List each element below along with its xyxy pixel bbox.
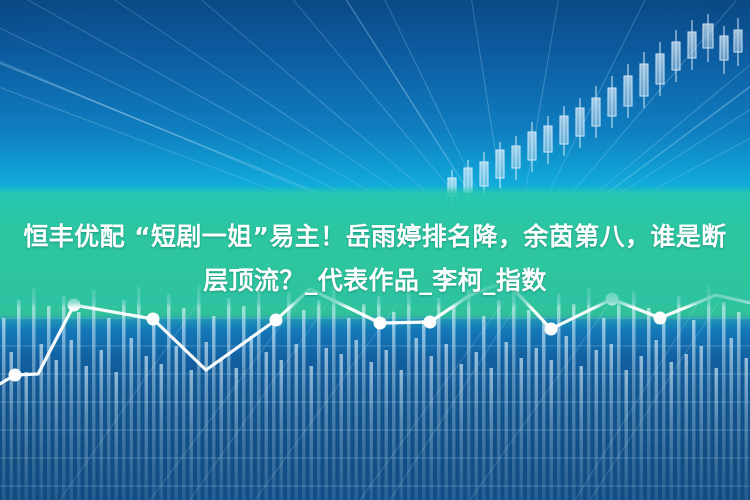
volume-bar-chart (2, 284, 748, 500)
candle (640, 52, 648, 108)
volume-bar (490, 368, 493, 500)
volume-bar (587, 288, 590, 500)
volume-bar (407, 288, 410, 500)
volume-bar (25, 372, 28, 500)
volume-bar (220, 358, 223, 500)
volume-bar (745, 358, 748, 500)
volume-bar (512, 284, 515, 500)
volume-bar (445, 344, 448, 500)
volume-bar (482, 316, 485, 500)
candle (656, 42, 664, 96)
volume-bar (640, 356, 643, 500)
volume-bar (182, 308, 185, 500)
volume-bar (190, 370, 193, 500)
volume-bar (115, 372, 118, 500)
title-line-1: 恒丰优配 “短剧一姐”易主！岳雨婷排名降，余茵第八，谁是断 (0, 215, 750, 259)
volume-bar (692, 320, 695, 500)
volume-bar (152, 320, 155, 500)
volume-bar (160, 364, 163, 500)
volume-bar (677, 296, 680, 500)
volume-bar (730, 338, 733, 500)
volume-bar (370, 362, 373, 500)
volume-bar (107, 318, 110, 500)
volume-bar (505, 342, 508, 500)
volume-bar (580, 366, 583, 500)
volume-bar (542, 322, 545, 500)
candle (703, 14, 713, 62)
volume-bar (610, 344, 613, 500)
candle (512, 136, 520, 180)
volume-bar (295, 344, 298, 500)
candle (544, 116, 552, 164)
candle (608, 76, 616, 128)
data-point-marker (545, 323, 558, 336)
data-point-marker (9, 369, 22, 382)
article-banner-image: 恒丰优配 “短剧一姐”易主！岳雨婷排名降，余茵第八，谁是断 层顶流？_代表作品_… (0, 0, 750, 500)
volume-bar (625, 370, 628, 500)
volume-bar (287, 292, 290, 500)
volume-bar (122, 300, 125, 500)
data-point-marker (147, 313, 160, 326)
volume-bar (685, 354, 688, 500)
volume-bar (662, 314, 665, 500)
volume-bar (347, 318, 350, 500)
volume-bar (70, 340, 73, 500)
perspective-grid (0, 0, 750, 200)
volume-bar (617, 300, 620, 500)
candle (720, 26, 728, 74)
bottom-gridlines (0, 318, 750, 486)
volume-bar (47, 306, 50, 500)
volume-bar (32, 288, 35, 500)
volume-bar (385, 350, 388, 500)
data-point-marker (654, 312, 667, 325)
volume-bar (242, 306, 245, 500)
candle (734, 18, 742, 66)
page-title: 恒丰优配 “短剧一姐”易主！岳雨婷排名降，余茵第八，谁是断 层顶流？_代表作品_… (0, 215, 750, 303)
volume-bar (715, 368, 718, 500)
volume-bar (325, 348, 328, 500)
volume-bar (92, 290, 95, 500)
volume-bar (595, 350, 598, 500)
volume-bar (355, 340, 358, 500)
volume-bar (527, 310, 530, 500)
volume-bar (212, 316, 215, 500)
volume-bar (197, 284, 200, 500)
volume-bar (722, 302, 725, 500)
volume-bar (647, 308, 650, 500)
volume-bar (340, 354, 343, 500)
volume-bar (602, 318, 605, 500)
volume-bar (535, 348, 538, 500)
volume-bar (467, 290, 470, 500)
volume-bar (130, 338, 133, 500)
volume-bar (392, 312, 395, 500)
candlestick-chart (448, 14, 742, 205)
candle (576, 98, 584, 148)
volume-bar (85, 366, 88, 500)
data-point-marker (270, 314, 283, 327)
volume-bar (737, 312, 740, 500)
candle (496, 142, 504, 188)
data-point-marker (374, 317, 387, 330)
title-line-2: 层顶流？_代表作品_李柯_指数 (0, 259, 750, 303)
volume-bar (460, 364, 463, 500)
volume-bar (670, 362, 673, 500)
volume-bar (167, 294, 170, 500)
volume-bar (655, 340, 658, 500)
candle (624, 64, 632, 118)
volume-bar (250, 336, 253, 500)
volume-bar (430, 356, 433, 500)
volume-bar (257, 288, 260, 500)
volume-bar (632, 292, 635, 500)
data-point-marker (424, 316, 437, 329)
volume-bar (2, 318, 5, 500)
volume-bar (700, 346, 703, 500)
volume-bar (565, 336, 568, 500)
volume-bar (310, 366, 313, 500)
volume-bar (437, 298, 440, 500)
volume-bar (17, 300, 20, 500)
diagonal-streaks (60, 300, 720, 500)
volume-bar (227, 298, 230, 500)
volume-bar (317, 300, 320, 500)
volume-bar (100, 350, 103, 500)
volume-bar (175, 346, 178, 500)
volume-bar (415, 338, 418, 500)
